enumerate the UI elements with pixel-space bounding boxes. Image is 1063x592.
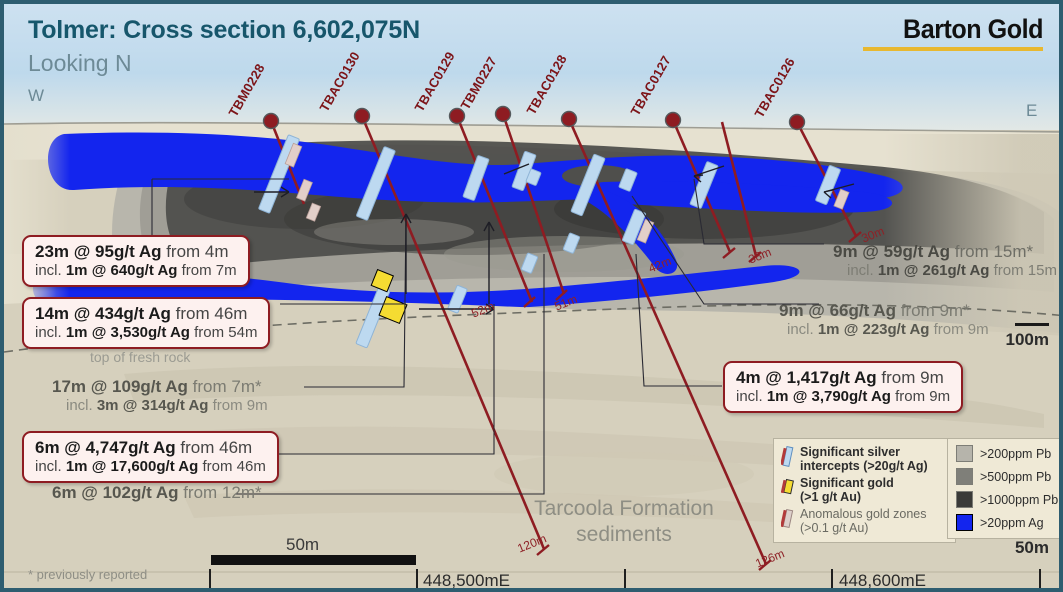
intercept-a-line2: incl. 1m @ 640g/t Ag from 7m: [35, 262, 237, 279]
intercept-e-line1: 6m @ 102g/t Ag from 12m*: [52, 483, 262, 503]
cross-section-figure: Tolmer: Cross section 6,602,075N Looking…: [0, 0, 1063, 592]
previously-reported-note: * previously reported: [28, 567, 147, 582]
intercept-callout-c: 17m @ 109g/t Ag from 7m* incl. 3m @ 314g…: [52, 377, 268, 414]
easting-label-448600: 448,600mE: [839, 571, 926, 591]
intercept-c-line1: 17m @ 109g/t Ag from 7m*: [52, 377, 268, 397]
legend-geochem-label-3: >20ppm Ag: [980, 516, 1044, 530]
anomalous-gold-icon: [781, 508, 795, 530]
intercept-b-line1: 14m @ 434g/t Ag from 46m: [35, 304, 257, 324]
intercept-g-line2: incl. 1m @ 223g/t Ag from 9m: [787, 321, 989, 338]
depth-marker-50m: 50m: [1015, 538, 1049, 558]
legend-geochem-item-3: >20ppm Ag: [956, 514, 1063, 531]
bedding-blob: [494, 452, 754, 496]
intercept-callout-h: 4m @ 1,417g/t Ag from 9m incl. 1m @ 3,79…: [723, 361, 963, 413]
intercept-callout-f: 9m @ 59g/t Ag from 15m* incl. 1m @ 261g/…: [833, 242, 1057, 279]
swatch-pb1000: [956, 491, 973, 508]
legend-geochem-item-0: >200ppm Pb: [956, 445, 1063, 462]
collar-TBAC0130: [355, 109, 370, 124]
collar-TBM0228: [264, 114, 279, 129]
intercept-c-line2: incl. 3m @ 314g/t Ag from 9m: [66, 397, 268, 414]
scale-bar: [211, 555, 416, 565]
west-label: W: [28, 86, 44, 106]
collar-TBM0227: [496, 107, 511, 122]
collar-TBAC0126: [790, 115, 805, 130]
intercept-d-line1: 6m @ 4,747g/t Ag from 46m: [35, 438, 266, 458]
legend-geochemistry: >200ppm Pb >500ppm Pb >1000ppm Pb >20ppm…: [947, 438, 1063, 539]
intercept-callout-g: 9m @ 66g/t Ag from 9m* incl. 1m @ 223g/t…: [779, 301, 989, 338]
scale-bar-label: 50m: [286, 535, 319, 555]
legend-geochem-label-1: >500ppm Pb: [980, 470, 1051, 484]
swatch-ag20: [956, 514, 973, 531]
silver-intercept-icon: [781, 446, 795, 468]
legend-symbols: Significant silver intercepts (>20g/t Ag…: [773, 438, 956, 543]
legend-label-gold: Significant gold (>1 g/t Au): [800, 476, 894, 504]
formation-label-line1: Tarcoola Formation: [504, 496, 744, 522]
page-title-bold: Tolmer:: [28, 16, 116, 44]
intercept-callout-e: 6m @ 102g/t Ag from 12m*: [52, 483, 262, 503]
legend-item-anomalous: Anomalous gold zones (>0.1 g/t Au): [781, 507, 948, 535]
intercept-d-line2: incl. 1m @ 17,600g/t Ag from 46m: [35, 458, 266, 475]
legend-geochem-label-2: >1000ppm Pb: [980, 493, 1058, 507]
page-title-rest: Cross section 6,602,075N: [116, 16, 420, 44]
page-title: Tolmer: Cross section 6,602,075N: [28, 16, 420, 45]
intercept-callout-b: 14m @ 434g/t Ag from 46m incl. 1m @ 3,53…: [22, 297, 270, 349]
swatch-pb200: [956, 445, 973, 462]
legend-geochem-item-1: >500ppm Pb: [956, 468, 1063, 485]
intercept-h-line1: 4m @ 1,417g/t Ag from 9m: [736, 368, 950, 388]
logo-text: Barton Gold: [876, 14, 1043, 45]
logo-accent-bar: [863, 47, 1043, 51]
page-subtitle: Looking N: [28, 50, 132, 77]
formation-label: Tarcoola Formation sediments: [504, 496, 744, 548]
intercept-callout-d: 6m @ 4,747g/t Ag from 46m incl. 1m @ 17,…: [22, 431, 279, 483]
collar-TBAC0129: [450, 109, 465, 124]
depth-marker-100m: 100m: [1006, 330, 1049, 350]
formation-label-line2: sediments: [504, 522, 744, 548]
legend-item-silver: Significant silver intercepts (>20g/t Ag…: [781, 445, 948, 473]
fresh-rock-label: top of fresh rock: [90, 349, 190, 365]
intercept-h-line2: incl. 1m @ 3,790g/t Ag from 9m: [736, 388, 950, 405]
intercept-g-line1: 9m @ 66g/t Ag from 9m*: [779, 301, 989, 321]
intercept-a-line1: 23m @ 95g/t Ag from 4m: [35, 242, 237, 262]
collar-TBAC0127: [666, 113, 681, 128]
legend-geochem-label-0: >200ppm Pb: [980, 447, 1051, 461]
gold-intercept-icon: [781, 477, 795, 499]
depth-100m-tick: [1015, 323, 1049, 326]
legend-label-silver: Significant silver intercepts (>20g/t Ag…: [800, 445, 928, 473]
intercept-f-line2: incl. 1m @ 261g/t Ag from 15m: [847, 262, 1057, 279]
legend-label-anomalous: Anomalous gold zones (>0.1 g/t Au): [800, 507, 926, 535]
intercept-f-line1: 9m @ 59g/t Ag from 15m*: [833, 242, 1057, 262]
intercept-b-line2: incl. 1m @ 3,530g/t Ag from 54m: [35, 324, 257, 341]
intercept-callout-a: 23m @ 95g/t Ag from 4m incl. 1m @ 640g/t…: [22, 235, 250, 287]
collar-TBAC0128: [562, 112, 577, 127]
easting-label-448500: 448,500mE: [423, 571, 510, 591]
pb-mottle-5: [314, 219, 474, 245]
legend-geochem-item-2: >1000ppm Pb: [956, 491, 1063, 508]
barton-gold-logo: Barton Gold: [863, 14, 1043, 51]
legend-item-gold: Significant gold (>1 g/t Au): [781, 476, 948, 504]
swatch-pb500: [956, 468, 973, 485]
east-label: E: [1026, 101, 1037, 121]
